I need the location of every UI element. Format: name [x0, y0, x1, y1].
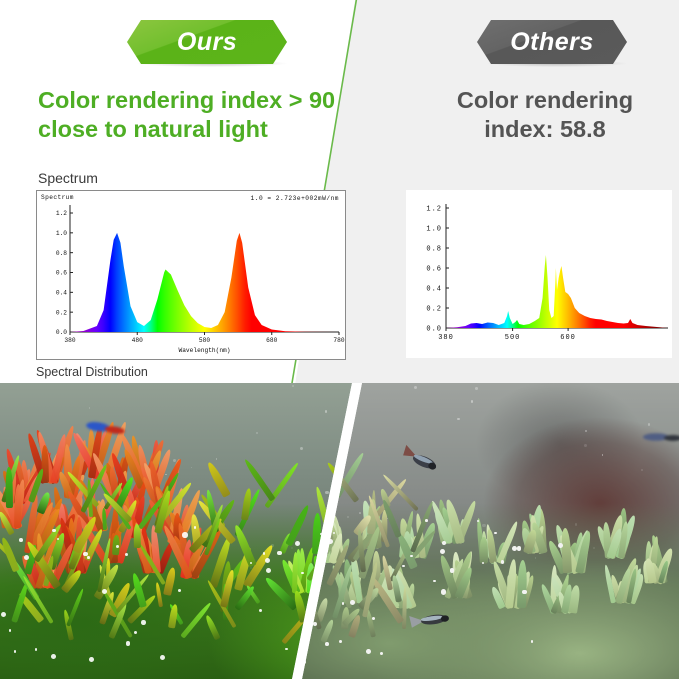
leaf-highlight: [366, 649, 371, 654]
leaf-highlight: [141, 620, 146, 625]
leaf-highlight: [558, 543, 563, 548]
ours-chart-caption: Spectral Distribution: [36, 365, 148, 379]
others-chart-plot: 0.00.20.40.60.81.01.2380500600: [406, 190, 672, 358]
leaf-highlight: [410, 555, 413, 558]
comparison-infographic: Ours Others Color rendering index > 90 c…: [0, 0, 679, 679]
leaf-highlight: [19, 538, 23, 542]
comparison-top-area: Ours Others Color rendering index > 90 c…: [0, 0, 679, 385]
others-headline: Color rendering index: 58.8: [420, 86, 670, 144]
leaf-highlight: [250, 562, 252, 564]
water-particle: [602, 454, 603, 455]
svg-text:Wavelength(nm): Wavelength(nm): [179, 347, 231, 354]
others-badge: Others: [477, 20, 627, 64]
ours-chart-annotation: 1.0 = 2.723e+002mW/nm: [251, 195, 339, 202]
ours-badge-label: Ours: [177, 28, 237, 57]
ours-chart-title: Spectrum: [38, 170, 98, 186]
leaf-highlight: [313, 622, 317, 626]
leaf-highlight: [402, 565, 404, 567]
svg-text:0.4: 0.4: [426, 285, 442, 293]
leaf-highlight: [380, 652, 383, 655]
water-particle: [471, 400, 474, 403]
leaf-highlight: [501, 560, 504, 563]
others-badge-label: Others: [510, 28, 594, 57]
leaf-highlight: [425, 519, 428, 522]
ours-badge: Ours: [127, 20, 287, 64]
leaf-highlight: [350, 600, 355, 605]
svg-text:480: 480: [132, 337, 143, 344]
svg-text:780: 780: [333, 337, 344, 344]
others-headline-line1: Color rendering: [420, 86, 670, 115]
svg-text:0.4: 0.4: [56, 290, 67, 297]
leaf-highlight: [24, 555, 29, 560]
water-particle: [331, 514, 334, 517]
ours-headline: Color rendering index > 90 close to natu…: [38, 86, 358, 144]
water-particle: [320, 568, 322, 570]
leaf-highlight: [512, 546, 517, 551]
svg-text:380: 380: [438, 334, 454, 342]
svg-text:1.2: 1.2: [56, 210, 67, 217]
leaf-highlight: [494, 532, 497, 535]
leaf-highlight: [522, 590, 527, 595]
svg-text:380: 380: [64, 337, 75, 344]
water-particle: [584, 444, 587, 447]
leaf-highlight: [277, 551, 281, 555]
leaf-highlight: [531, 640, 533, 642]
green-plant-leaf: [292, 552, 298, 593]
water-particle: [165, 474, 166, 475]
red-stem-plant-leaf: [14, 484, 22, 528]
others-headline-line2: index: 58.8: [420, 115, 670, 144]
leaf-highlight: [301, 660, 305, 664]
leaf-highlight: [259, 609, 262, 612]
leaf-highlight: [102, 589, 107, 594]
water-particle: [325, 491, 328, 494]
svg-text:600: 600: [560, 334, 576, 342]
svg-text:1.0: 1.0: [426, 225, 442, 233]
ours-chart-corner-label: Spectrum: [41, 194, 74, 201]
leaf-highlight: [442, 541, 446, 545]
svg-text:0.2: 0.2: [426, 305, 442, 313]
leaf-highlight: [301, 660, 305, 664]
svg-text:0.0: 0.0: [426, 325, 442, 333]
leaf-highlight: [194, 526, 196, 528]
svg-text:1.2: 1.2: [426, 205, 442, 213]
svg-text:500: 500: [505, 334, 521, 342]
leaf-highlight: [35, 648, 38, 651]
ours-spectrum-chart: Spectrum 1.0 = 2.723e+002mW/nm 0.00.20.4…: [36, 190, 346, 360]
ours-headline-line2: close to natural light: [38, 115, 358, 144]
leaf-highlight: [87, 556, 90, 559]
plant-leaf: [5, 467, 12, 508]
svg-text:0.6: 0.6: [56, 270, 67, 277]
plant-leaf: [133, 524, 141, 549]
water-particle: [475, 387, 478, 390]
leaf-highlight: [339, 640, 342, 643]
leaf-highlight: [125, 553, 128, 556]
leaf-highlight: [440, 549, 445, 554]
svg-text:680: 680: [266, 337, 277, 344]
leaf-highlight: [342, 602, 344, 604]
leaf-highlight: [116, 545, 119, 548]
svg-text:0.2: 0.2: [56, 309, 67, 316]
svg-text:1.0: 1.0: [56, 230, 67, 237]
water-particle: [331, 514, 334, 517]
leaf-highlight: [134, 631, 137, 634]
leaf-highlight: [126, 641, 130, 645]
ours-headline-line1: Color rendering index > 90: [38, 86, 358, 115]
svg-text:580: 580: [199, 337, 210, 344]
background-fish-right: [640, 429, 679, 445]
leaf-highlight: [320, 533, 322, 535]
svg-text:0.8: 0.8: [426, 245, 442, 253]
svg-text:0.0: 0.0: [56, 329, 67, 336]
ours-chart-plot: 0.00.20.40.60.81.01.2380480580680780Wave…: [37, 191, 345, 359]
water-particle: [256, 432, 258, 434]
water-particle: [320, 568, 322, 570]
water-particle: [585, 430, 587, 432]
photo-comparison-area: [0, 383, 679, 679]
green-plant-leaf: [517, 560, 527, 608]
leaf-highlight: [89, 657, 94, 662]
leaf-highlight: [182, 532, 187, 537]
svg-text:0.6: 0.6: [426, 265, 442, 273]
leaf-highlight: [83, 552, 88, 557]
leaf-highlight: [327, 539, 332, 544]
others-spectrum-chart: 0.00.20.40.60.81.01.2380500600: [406, 190, 672, 358]
leaf-highlight: [301, 572, 303, 574]
leaf-highlight: [265, 558, 270, 563]
svg-text:0.8: 0.8: [56, 250, 67, 257]
